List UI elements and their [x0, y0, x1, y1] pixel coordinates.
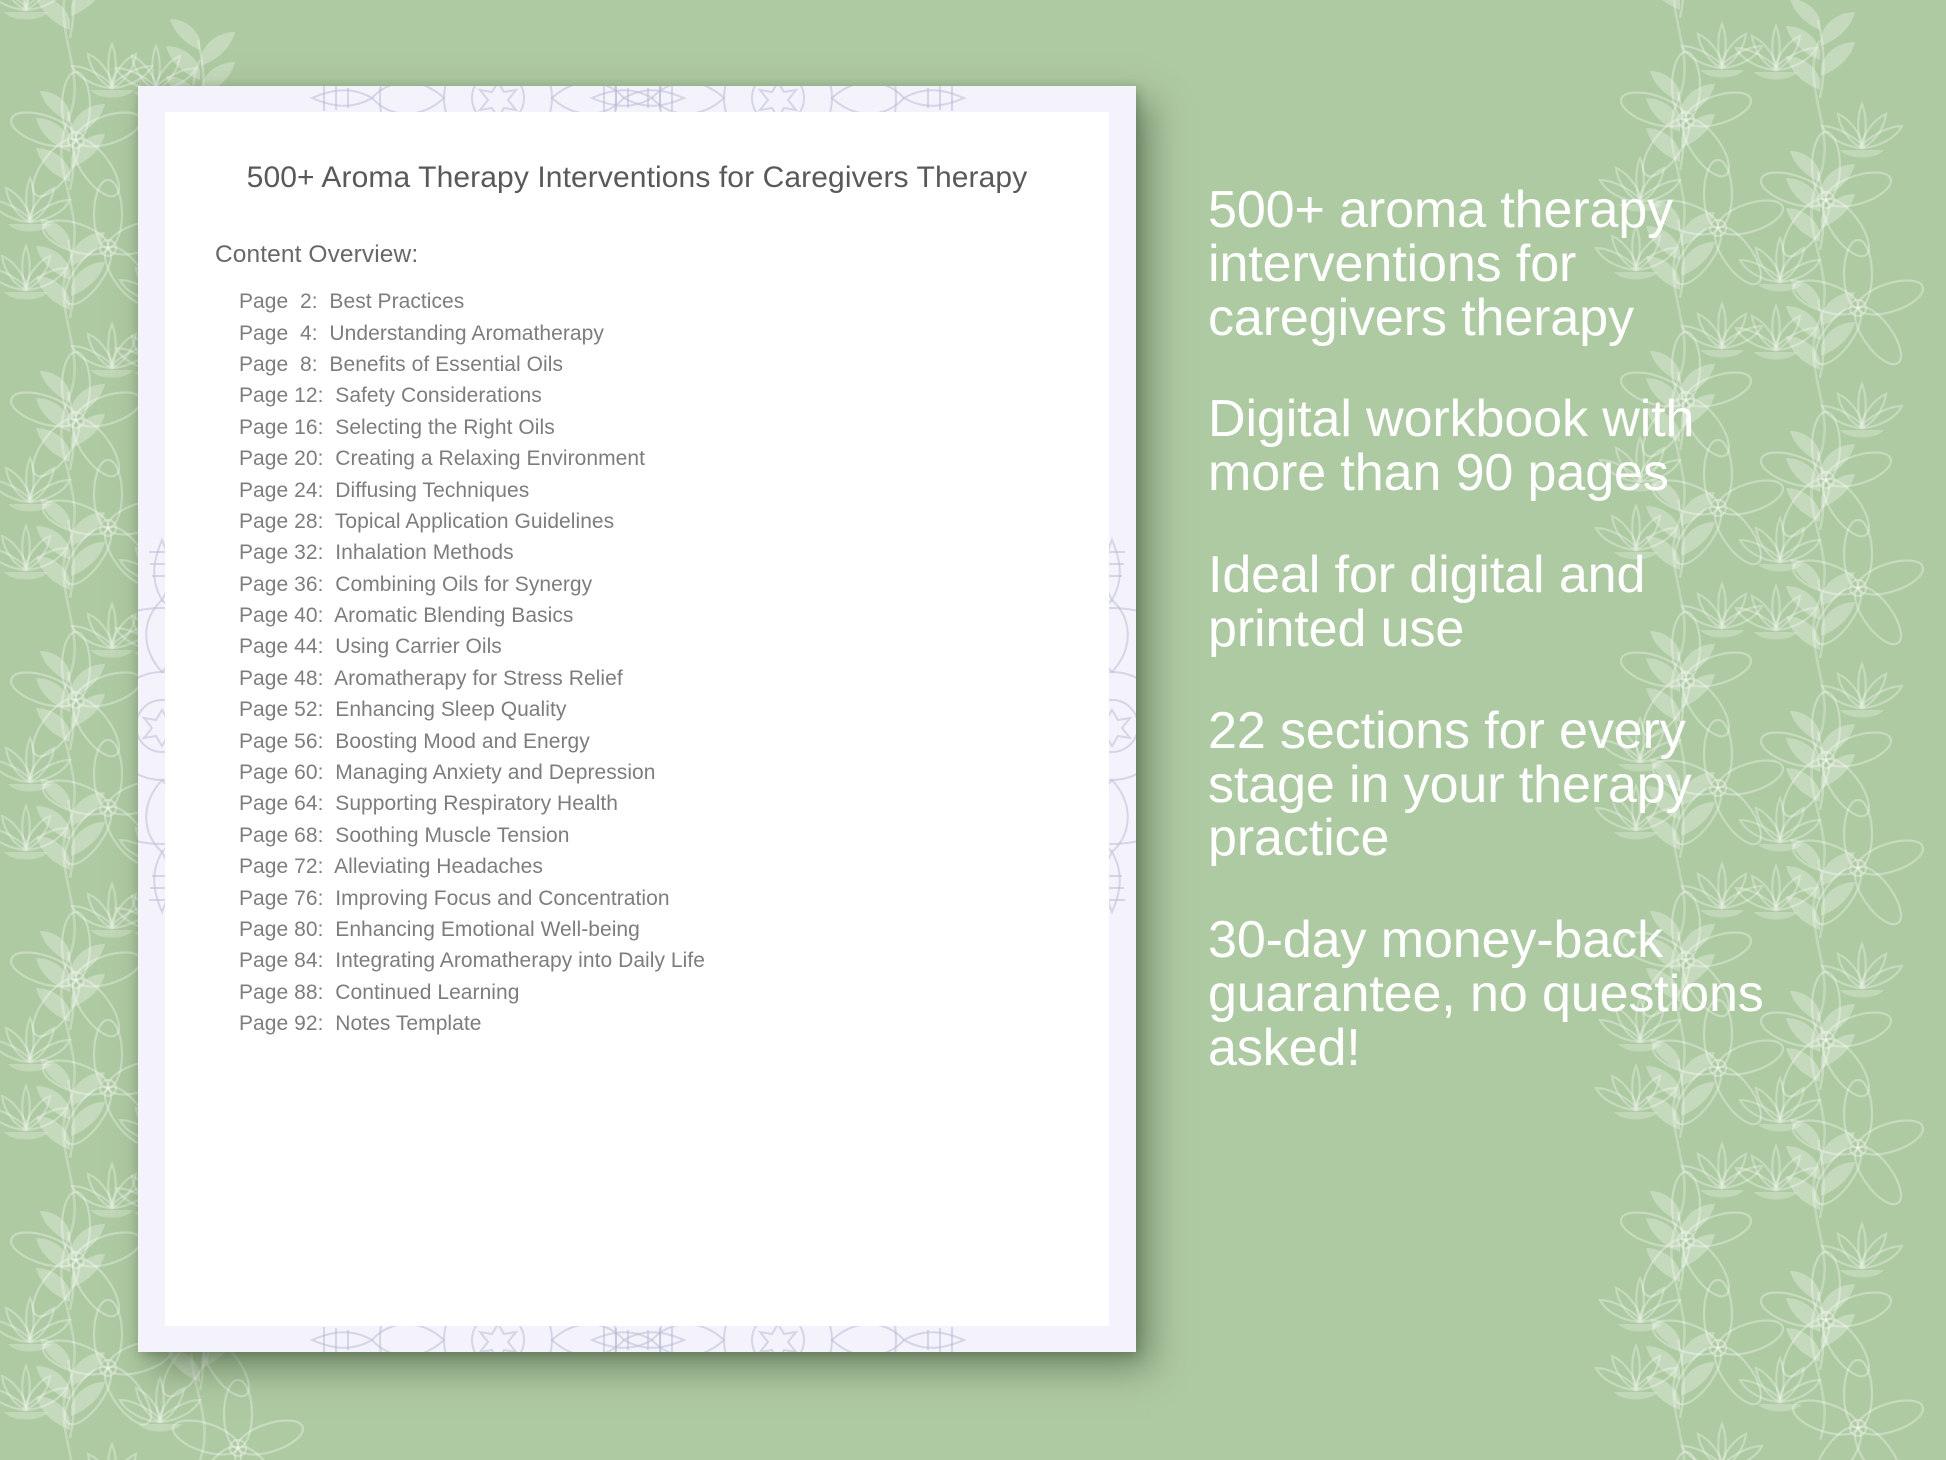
toc-page-number: Page 92:: [239, 1012, 323, 1035]
marketing-bullets: 500+ aroma therapy interventions for car…: [1208, 184, 1808, 1076]
toc-entry-title: Topical Application Guidelines: [335, 510, 614, 533]
toc-entry-title: Improving Focus and Concentration: [335, 887, 669, 910]
toc-page-number: Page 56:: [239, 730, 323, 753]
toc-page-number: Page 48:: [239, 667, 323, 690]
list-item: Page 76: Improving Focus and Concentrati…: [239, 883, 1109, 914]
toc-page-number: Page 2:: [239, 290, 318, 313]
toc-page-number: Page 12:: [239, 384, 323, 407]
toc-page-number: Page 76:: [239, 887, 323, 910]
toc-entry-title: Benefits of Essential Oils: [329, 353, 563, 376]
list-item: Page 36: Combining Oils for Synergy: [239, 569, 1109, 600]
list-item: Page 64: Supporting Respiratory Health: [239, 788, 1109, 819]
toc-entry-title: Alleviating Headaches: [334, 855, 543, 878]
toc-entry-title: Enhancing Emotional Well-being: [335, 918, 640, 941]
toc-page-number: Page 44:: [239, 635, 323, 658]
list-item: Page 60: Managing Anxiety and Depression: [239, 757, 1109, 788]
toc-entry-title: Aromatherapy for Stress Relief: [334, 667, 623, 690]
list-item: Page 8: Benefits of Essential Oils: [239, 349, 1109, 380]
toc-page-number: Page 52:: [239, 698, 323, 721]
list-item: Page 68: Soothing Muscle Tension: [239, 820, 1109, 851]
list-item: Page 2: Best Practices: [239, 286, 1109, 317]
list-item: Page 52: Enhancing Sleep Quality: [239, 694, 1109, 725]
toc-page-number: Page 20:: [239, 447, 323, 470]
toc-page-number: Page 36:: [239, 573, 323, 596]
list-item: Page 44: Using Carrier Oils: [239, 631, 1109, 662]
toc-page-number: Page 24:: [239, 479, 323, 502]
marketing-bullet: 500+ aroma therapy interventions for car…: [1208, 184, 1808, 345]
toc-entry-title: Understanding Aromatherapy: [329, 322, 603, 345]
toc-entry-title: Selecting the Right Oils: [335, 416, 554, 439]
list-item: Page 16: Selecting the Right Oils: [239, 412, 1109, 443]
document-page: 500+ Aroma Therapy Interventions for Car…: [165, 112, 1109, 1326]
toc-entry-title: Continued Learning: [335, 981, 519, 1004]
toc-entry-title: Diffusing Techniques: [335, 479, 529, 502]
toc-entry-title: Aromatic Blending Basics: [334, 604, 573, 627]
toc-entry-title: Managing Anxiety and Depression: [335, 761, 655, 784]
list-item: Page 4: Understanding Aromatherapy: [239, 318, 1109, 349]
marketing-bullet: Digital workbook with more than 90 pages: [1208, 393, 1808, 501]
toc-entry-title: Creating a Relaxing Environment: [335, 447, 645, 470]
list-item: Page 80: Enhancing Emotional Well-being: [239, 914, 1109, 945]
toc-page-number: Page 8:: [239, 353, 318, 376]
list-item: Page 48: Aromatherapy for Stress Relief: [239, 663, 1109, 694]
toc-entry-title: Boosting Mood and Energy: [335, 730, 590, 753]
toc-page-number: Page 28:: [239, 510, 323, 533]
toc-page-number: Page 84:: [239, 949, 323, 972]
toc-entry-title: Inhalation Methods: [335, 541, 513, 564]
list-item: Page 72: Alleviating Headaches: [239, 851, 1109, 882]
marketing-bullet: 22 sections for every stage in your ther…: [1208, 705, 1808, 866]
toc-page-number: Page 4:: [239, 322, 318, 345]
toc-page-number: Page 40:: [239, 604, 323, 627]
toc-entry-title: Safety Considerations: [335, 384, 542, 407]
toc-page-number: Page 32:: [239, 541, 323, 564]
list-item: Page 20: Creating a Relaxing Environment: [239, 443, 1109, 474]
marketing-bullet: Ideal for digital and printed use: [1208, 549, 1808, 657]
toc-entry-title: Integrating Aromatherapy into Daily Life: [335, 949, 705, 972]
toc-page-number: Page 80:: [239, 918, 323, 941]
toc-entry-title: Best Practices: [329, 290, 464, 313]
toc-page-number: Page 88:: [239, 981, 323, 1004]
toc-page-number: Page 68:: [239, 824, 323, 847]
document-card[interactable]: 500+ Aroma Therapy Interventions for Car…: [138, 86, 1136, 1352]
toc-entry-title: Notes Template: [335, 1012, 481, 1035]
list-item: Page 84: Integrating Aromatherapy into D…: [239, 945, 1109, 976]
list-item: Page 40: Aromatic Blending Basics: [239, 600, 1109, 631]
content-overview-label: Content Overview:: [215, 241, 1109, 269]
toc-page-number: Page 72:: [239, 855, 323, 878]
list-item: Page 24: Diffusing Techniques: [239, 475, 1109, 506]
toc-entry-title: Supporting Respiratory Health: [335, 792, 618, 815]
toc-entry-title: Using Carrier Oils: [335, 635, 502, 658]
page-title: 500+ Aroma Therapy Interventions for Car…: [225, 158, 1049, 198]
list-item: Page 12: Safety Considerations: [239, 380, 1109, 411]
list-item: Page 92: Notes Template: [239, 1008, 1109, 1039]
list-item: Page 28: Topical Application Guidelines: [239, 506, 1109, 537]
toc-page-number: Page 16:: [239, 416, 323, 439]
toc-entry-title: Combining Oils for Synergy: [335, 573, 592, 596]
list-item: Page 32: Inhalation Methods: [239, 537, 1109, 568]
toc-entry-title: Soothing Muscle Tension: [335, 824, 569, 847]
list-item: Page 88: Continued Learning: [239, 977, 1109, 1008]
table-of-contents: Page 2: Best Practices Page 4: Understan…: [239, 286, 1109, 1039]
marketing-bullet: 30-day money-back guarantee, no question…: [1208, 914, 1808, 1075]
toc-page-number: Page 60:: [239, 761, 323, 784]
list-item: Page 56: Boosting Mood and Energy: [239, 726, 1109, 757]
toc-page-number: Page 64:: [239, 792, 323, 815]
toc-entry-title: Enhancing Sleep Quality: [335, 698, 566, 721]
